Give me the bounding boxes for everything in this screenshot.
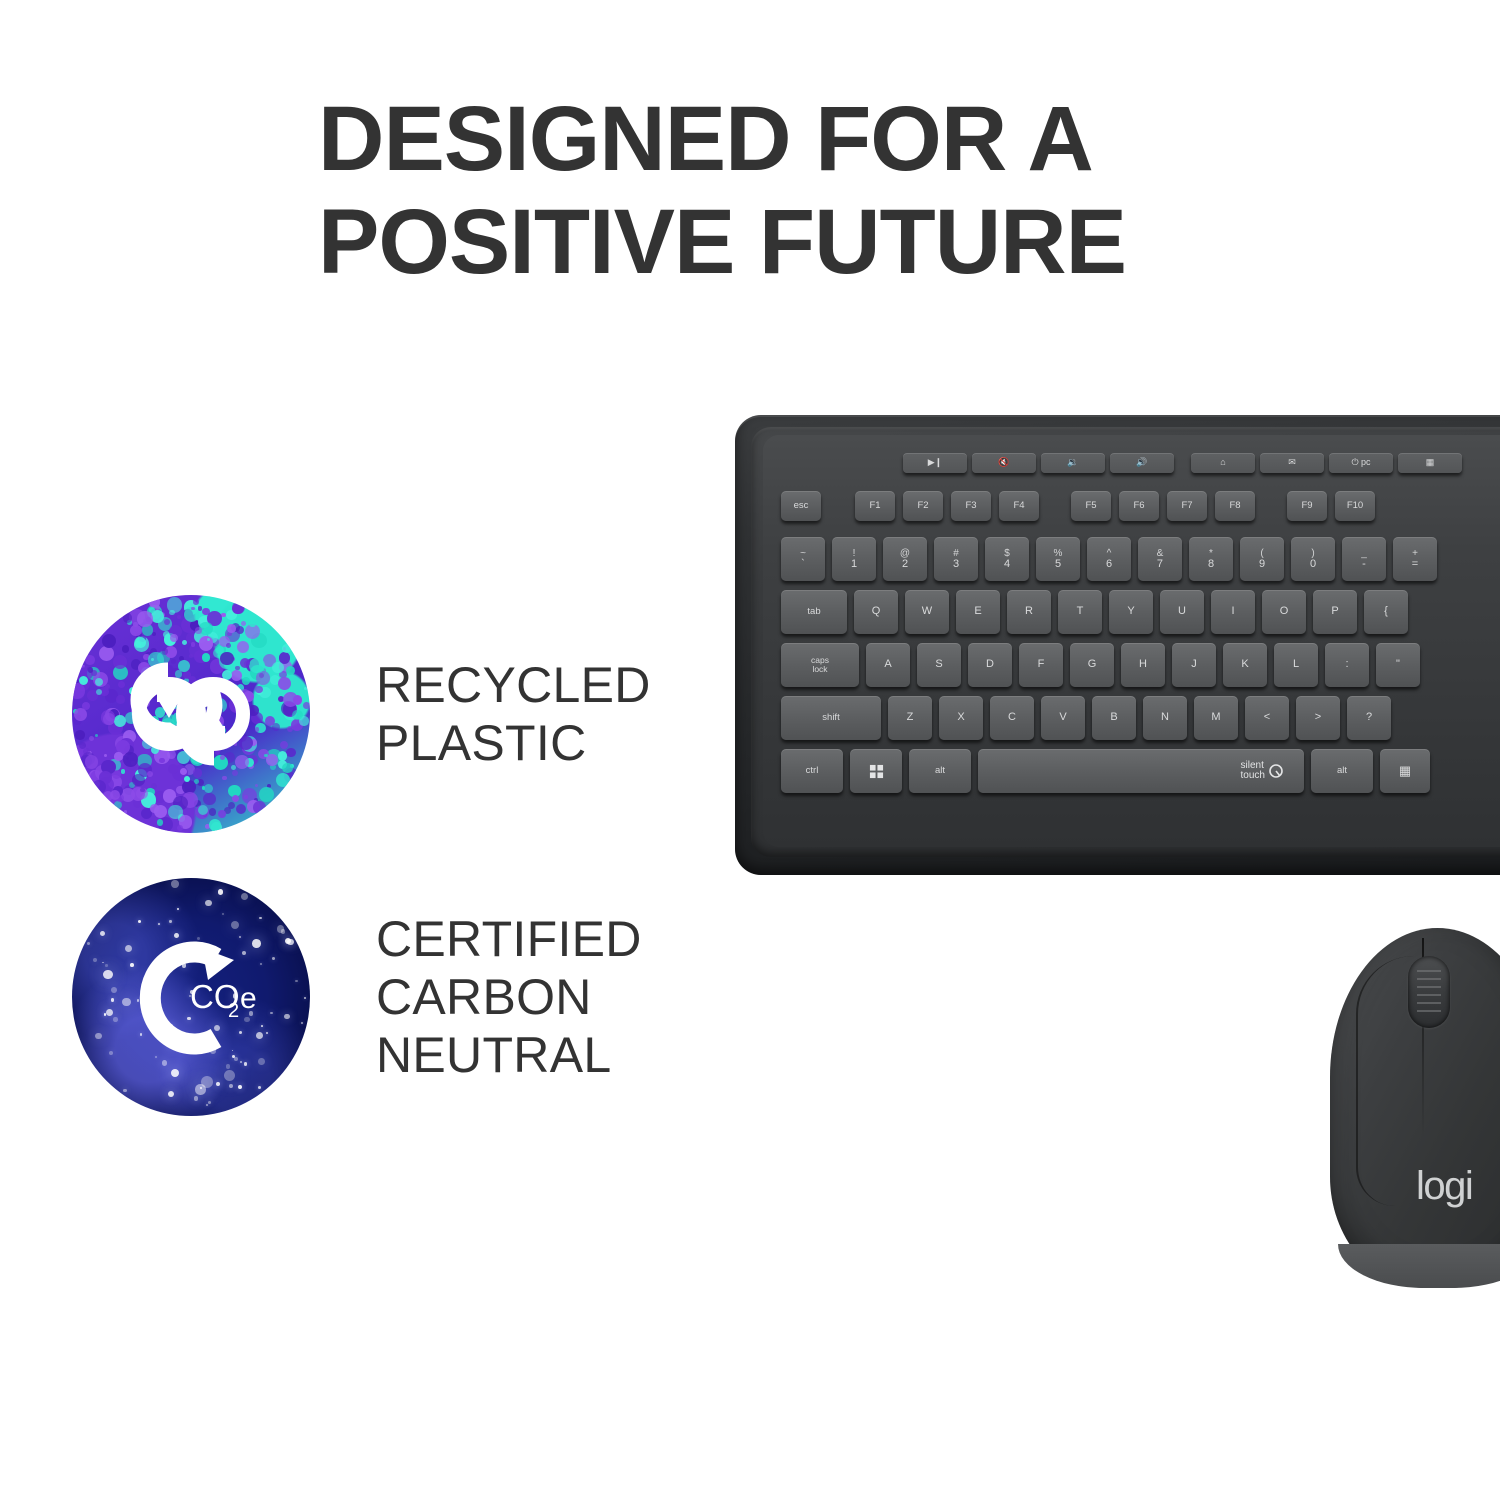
feature-label-line-3: NEUTRAL [376,1026,642,1084]
feature-certified-carbon-neutral: CO 2 e CERTIFIED CARBON NEUTRAL [72,878,642,1116]
volume-down-key[interactable]: 🔉 [1041,453,1105,473]
feature-recycled-plastic: RECYCLED PLASTIC [72,595,651,833]
key-x[interactable]: X [939,696,983,740]
key-3[interactable]: #3 [934,537,978,581]
feature-label-line-2: PLASTIC [376,714,651,772]
key-l[interactable]: L [1274,643,1318,687]
play-pause-key[interactable]: ▶❙ [903,453,967,473]
key-f1[interactable]: F1 [855,491,895,521]
page-title: DESIGNED FOR A POSITIVE FUTURE [318,88,1318,294]
keyboard-qwerty-row: tabQWERTYUIOP{ [781,590,1408,634]
keyboard-home-row: capslockASDFGHJKL:" [781,643,1420,687]
headline-line-2: POSITIVE FUTURE [318,191,1318,294]
key-a[interactable]: A [866,643,910,687]
silent-touch-logo: silenttouch [1241,761,1284,781]
mouse-left-button-seam [1356,956,1414,1206]
key-t[interactable]: T [1058,590,1102,634]
home-key[interactable]: ⌂ [1191,453,1255,473]
key-{[interactable]: { [1364,590,1408,634]
key-w[interactable]: W [905,590,949,634]
key-4[interactable]: $4 [985,537,1029,581]
key->[interactable]: > [1296,696,1340,740]
key-0[interactable]: )0 [1291,537,1335,581]
key-z[interactable]: Z [888,696,932,740]
wireless-mouse: logi [1330,928,1500,1288]
key-8[interactable]: *8 [1189,537,1233,581]
key--[interactable]: _- [1342,537,1386,581]
key-o[interactable]: O [1262,590,1306,634]
key-k[interactable]: K [1223,643,1267,687]
feature-label-line-1: RECYCLED [376,656,651,714]
key-u[interactable]: U [1160,590,1204,634]
key-5[interactable]: %5 [1036,537,1080,581]
sleep-pc-key[interactable]: ⏻ pc [1329,453,1393,473]
key-y[interactable]: Y [1109,590,1153,634]
key-c[interactable]: C [990,696,1034,740]
key-f6[interactable]: F6 [1119,491,1159,521]
key-f9[interactable]: F9 [1287,491,1327,521]
keyboard-bottom-row: ctrlaltsilenttouchalt▦ [781,749,1430,793]
logi-logo: logi [1416,1164,1472,1209]
key-f10[interactable]: F10 [1335,491,1375,521]
mute-key[interactable]: 🔇 [972,453,1036,473]
co2e-suffix: e [240,982,257,1015]
key-alt[interactable]: alt [909,749,971,793]
recycled-plastic-badge [72,595,310,833]
co2e-subscript: 2 [228,1000,239,1022]
key-s[interactable]: S [917,643,961,687]
key-ctrl[interactable]: ctrl [781,749,843,793]
key-e[interactable]: E [956,590,1000,634]
feature-label-recycled-plastic: RECYCLED PLASTIC [376,656,651,772]
volume-up-key[interactable]: 🔊 [1110,453,1174,473]
key-"[interactable]: " [1376,643,1420,687]
keyboard-function-row: escF1F2F3F4F5F6F7F8F9F10 [781,491,1383,521]
key-g[interactable]: G [1070,643,1114,687]
key-m[interactable]: M [1194,696,1238,740]
key-f4[interactable]: F4 [999,491,1039,521]
key-f[interactable]: F [1019,643,1063,687]
keyboard-shift-row: shiftZXCVBNM<>? [781,696,1391,740]
feature-label-line-1: CERTIFIED [376,910,642,968]
key-r[interactable]: R [1007,590,1051,634]
key-f5[interactable]: F5 [1071,491,1111,521]
key-<[interactable]: < [1245,696,1289,740]
key-?[interactable]: ? [1347,696,1391,740]
key-q[interactable]: Q [854,590,898,634]
key-9[interactable]: (9 [1240,537,1284,581]
key-i[interactable]: I [1211,590,1255,634]
key-tab[interactable]: tab [781,590,847,634]
key-f2[interactable]: F2 [903,491,943,521]
mail-key[interactable]: ✉ [1260,453,1324,473]
key-`[interactable]: ~` [781,537,825,581]
key-shift[interactable]: shift [781,696,881,740]
key-1[interactable]: !1 [832,537,876,581]
key-alt[interactable]: alt [1311,749,1373,793]
keyboard-number-row: ~`!1@2#3$4%5^6&7*8(9)0_-+= [781,537,1437,581]
key-windows[interactable] [850,749,902,793]
key-v[interactable]: V [1041,696,1085,740]
key-menu[interactable]: ▦ [1380,749,1430,793]
feature-label-line-2: CARBON [376,968,642,1026]
keyboard-deck: ▶❙🔇🔉🔊⌂✉⏻ pc▦ escF1F2F3F4F5F6F7F8F9F10 ~`… [763,435,1500,847]
key-f8[interactable]: F8 [1215,491,1255,521]
key-space[interactable]: silenttouch [978,749,1304,793]
mouse-base-rim [1338,1244,1500,1288]
key-f7[interactable]: F7 [1167,491,1207,521]
key-d[interactable]: D [968,643,1012,687]
carbon-neutral-badge: CO 2 e [72,878,310,1116]
key-b[interactable]: B [1092,696,1136,740]
key-p[interactable]: P [1313,590,1357,634]
keyboard-media-row: ▶❙🔇🔉🔊⌂✉⏻ pc▦ [903,453,1462,473]
key-j[interactable]: J [1172,643,1216,687]
co2e-carbon-icon: CO 2 e [116,922,266,1072]
key-esc[interactable]: esc [781,491,821,521]
key-7[interactable]: &7 [1138,537,1182,581]
calculator-key[interactable]: ▦ [1398,453,1462,473]
silent-touch-icon [1268,763,1284,779]
wireless-keyboard: ▶❙🔇🔉🔊⌂✉⏻ pc▦ escF1F2F3F4F5F6F7F8F9F10 ~`… [735,415,1500,875]
recycle-arrows-icon [121,644,261,784]
feature-label-carbon-neutral: CERTIFIED CARBON NEUTRAL [376,910,642,1084]
key-2[interactable]: @2 [883,537,927,581]
key-h[interactable]: H [1121,643,1165,687]
mouse-scroll-wheel [1408,956,1450,1028]
windows-icon [869,764,884,779]
key-caps-lock[interactable]: capslock [781,643,859,687]
key-n[interactable]: N [1143,696,1187,740]
key-:[interactable]: : [1325,643,1369,687]
key-=[interactable]: += [1393,537,1437,581]
key-6[interactable]: ^6 [1087,537,1131,581]
headline-line-1: DESIGNED FOR A [318,88,1318,191]
key-f3[interactable]: F3 [951,491,991,521]
